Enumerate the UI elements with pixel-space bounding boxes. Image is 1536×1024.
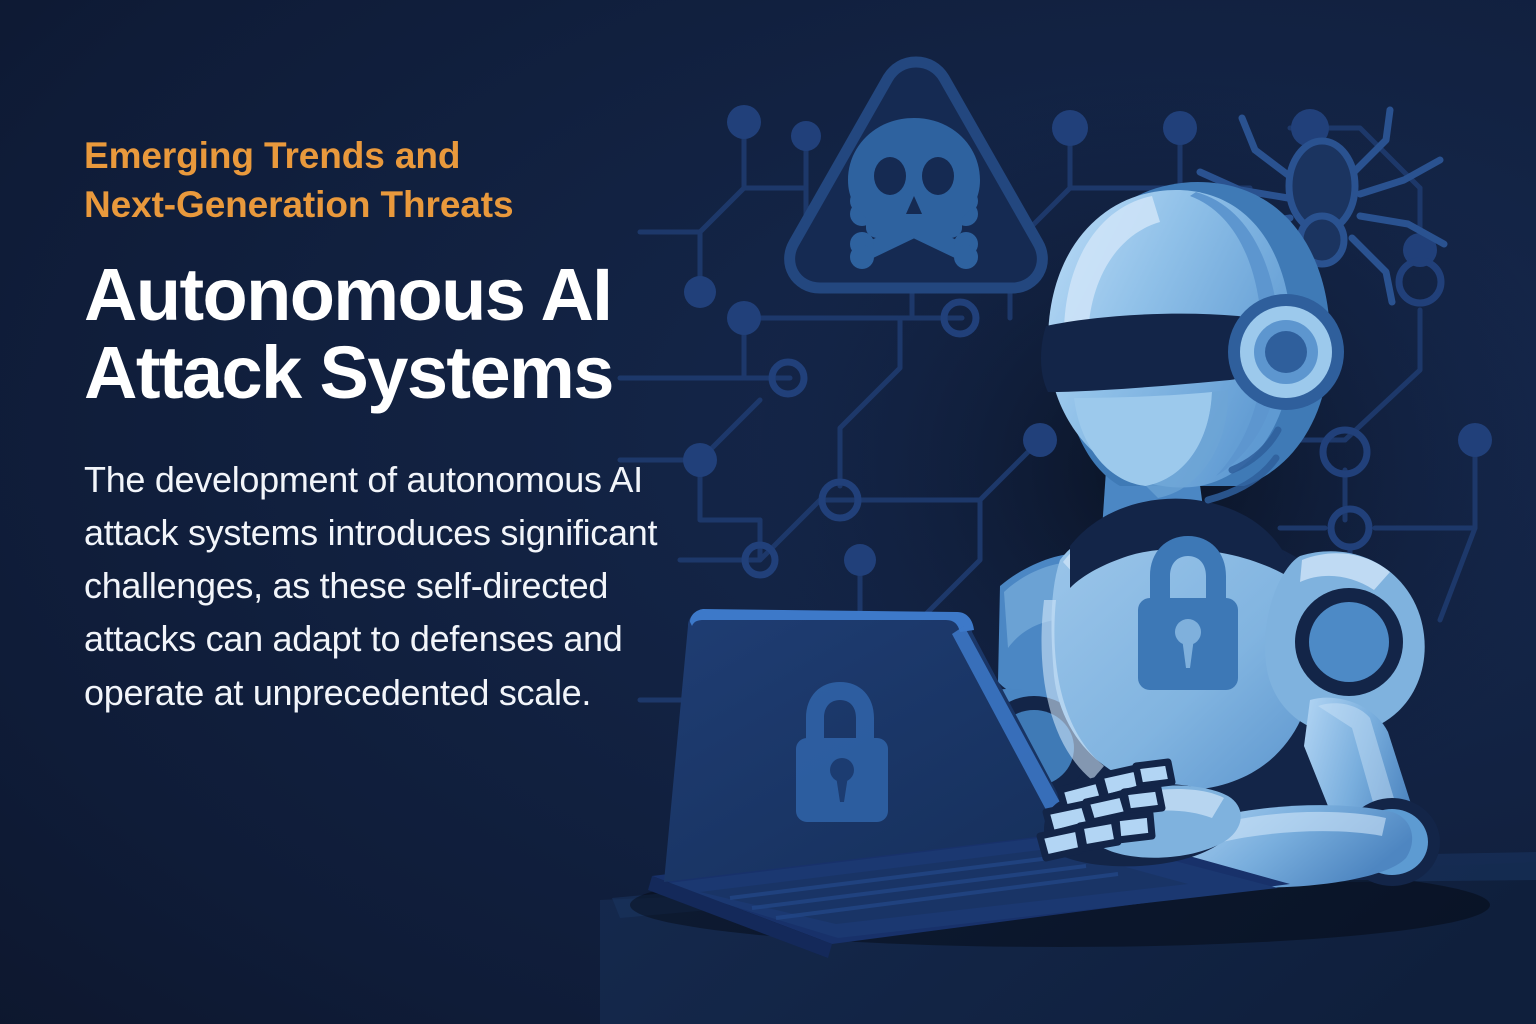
text-column: Emerging Trends and Next-Generation Thre… [84,132,744,719]
eyebrow-text: Emerging Trends and Next-Generation Thre… [84,132,744,230]
slide-root: Emerging Trends and Next-Generation Thre… [0,0,1536,1024]
hazard-triangle-icon [790,62,1043,288]
page-title: Autonomous AI Attack Systems [84,256,744,413]
body-paragraph: The development of autonomous AI attack … [84,453,714,719]
